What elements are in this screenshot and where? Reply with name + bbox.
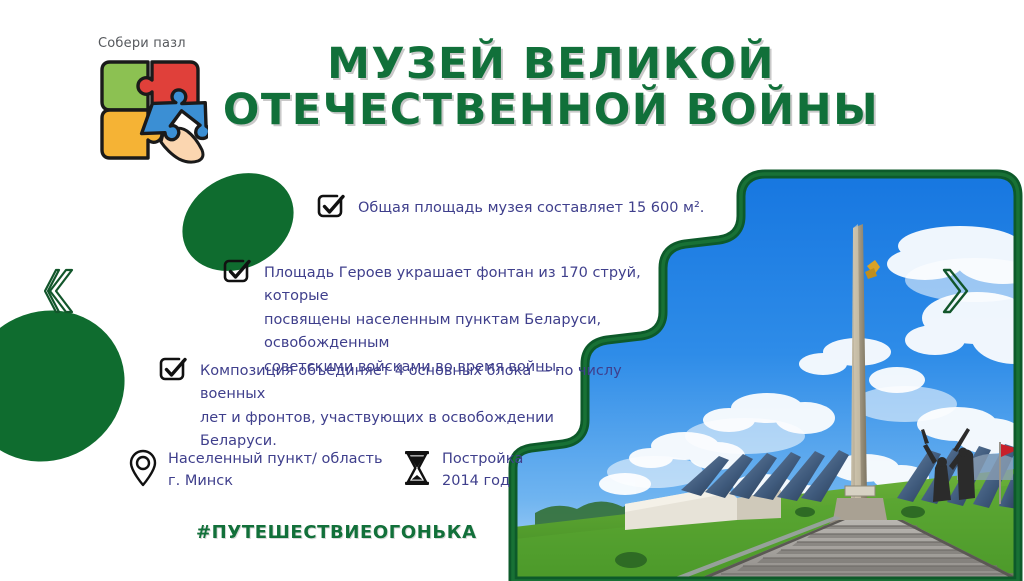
puzzle-icon bbox=[100, 58, 208, 170]
brand-logo: Собери пазл bbox=[98, 36, 214, 168]
bullet-item-3: Композиция объединяет 4 основных блока —… bbox=[158, 360, 628, 454]
hourglass-icon bbox=[402, 449, 432, 492]
bullet-item-1: Общая площадь музея составляет 15 600 м²… bbox=[316, 197, 716, 228]
checkbox-checked-icon bbox=[316, 193, 346, 228]
title-line-1: МУЗЕЙ ВЕЛИКОЙ bbox=[206, 42, 896, 88]
checkbox-checked-icon bbox=[222, 258, 252, 293]
title-line-2: ОТЕЧЕСТВЕННОЙ ВОЙНЫ bbox=[206, 88, 896, 134]
slide-canvas: Собери пазл МУЗЕЙ ВЕЛИКОЙ ОТЕЧЕСТВЕННОЙ … bbox=[0, 0, 1024, 581]
checkbox-checked-icon bbox=[158, 356, 188, 391]
bullet-text-3: Композиция объединяет 4 основных блока —… bbox=[200, 360, 628, 454]
brand-caption: Собери пазл bbox=[98, 36, 214, 51]
double-chevron-left-icon[interactable] bbox=[44, 266, 78, 321]
location-pin-icon bbox=[128, 449, 158, 492]
bullet-text-1: Общая площадь музея составляет 15 600 м²… bbox=[358, 197, 704, 220]
meta-built-text: Постройка 2014 год bbox=[442, 448, 523, 492]
page-title: МУЗЕЙ ВЕЛИКОЙ ОТЕЧЕСТВЕННОЙ ВОЙНЫ bbox=[206, 42, 896, 133]
meta-built: Постройка 2014 год bbox=[402, 448, 523, 492]
meta-location-text: Населенный пункт/ область г. Минск bbox=[168, 448, 382, 492]
hashtag-label: #ПУТЕШЕСТВИЕОГОНЬКА bbox=[196, 522, 477, 543]
chevron-right-icon[interactable] bbox=[940, 266, 974, 321]
meta-location: Населенный пункт/ область г. Минск bbox=[128, 448, 382, 492]
